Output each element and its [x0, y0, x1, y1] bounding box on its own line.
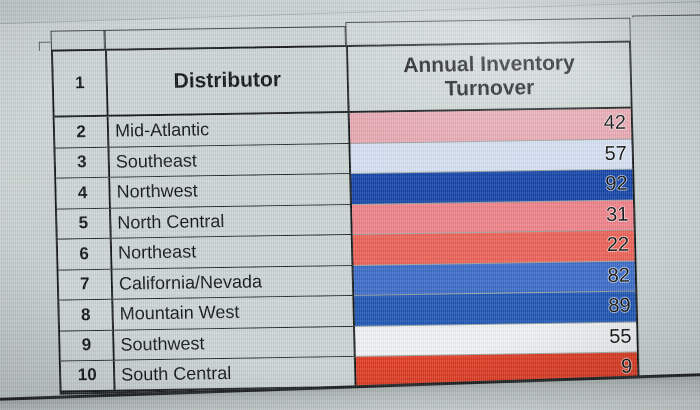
turnover-cell[interactable]: 89: [354, 292, 636, 327]
row-number-cell[interactable]: 2: [55, 117, 110, 148]
distributor-cell[interactable]: Southwest: [114, 326, 356, 360]
row-number-cell[interactable]: 10: [61, 361, 116, 392]
screenshot-root: 1 Distributor Annual Inventory Turnover …: [0, 0, 700, 410]
distributor-cell[interactable]: Mountain West: [113, 296, 355, 330]
distributor-cell[interactable]: Mid-Atlantic: [109, 113, 351, 147]
table-body: 2Mid-Atlantic423Southeast574Northwest925…: [55, 109, 638, 392]
turnover-cell[interactable]: 31: [352, 200, 634, 235]
distributor-cell[interactable]: Southeast: [109, 143, 351, 177]
row-number-cell[interactable]: 5: [57, 208, 112, 239]
turnover-cell[interactable]: 92: [351, 170, 633, 205]
distributor-cell[interactable]: Northeast: [112, 235, 354, 269]
column-header-distributor[interactable]: Distributor: [107, 47, 350, 117]
turnover-cell[interactable]: 22: [353, 231, 635, 266]
row-number-cell[interactable]: 3: [55, 147, 110, 178]
row-number-cell[interactable]: 4: [56, 178, 111, 209]
clipped-cell-above-left[interactable]: [50, 30, 105, 51]
row-number-cell[interactable]: 6: [58, 239, 113, 270]
column-header-turnover-line2: Turnover: [445, 76, 535, 101]
column-header-turnover[interactable]: Annual Inventory Turnover: [348, 43, 631, 113]
distributor-cell[interactable]: California/Nevada: [113, 265, 355, 299]
turnover-cell[interactable]: 82: [354, 261, 636, 296]
turnover-cell[interactable]: 55: [355, 322, 637, 357]
spreadsheet-viewport: 1 Distributor Annual Inventory Turnover …: [0, 0, 700, 410]
row-number-cell[interactable]: 7: [59, 269, 114, 300]
row-number-cell[interactable]: 9: [60, 330, 115, 361]
data-grid[interactable]: 1 Distributor Annual Inventory Turnover …: [51, 41, 640, 395]
turnover-cell[interactable]: 42: [350, 109, 632, 144]
distributor-cell[interactable]: North Central: [111, 204, 353, 238]
turnover-cell[interactable]: 57: [350, 139, 632, 174]
sheet-right-margin: [631, 16, 700, 385]
row-number-cell[interactable]: 8: [59, 300, 114, 331]
distributor-cell[interactable]: Northwest: [110, 174, 352, 208]
column-header-turnover-line1: Annual Inventory: [403, 52, 575, 78]
row-number-header[interactable]: 1: [53, 51, 109, 118]
table-header-row: 1 Distributor Annual Inventory Turnover: [53, 43, 631, 118]
